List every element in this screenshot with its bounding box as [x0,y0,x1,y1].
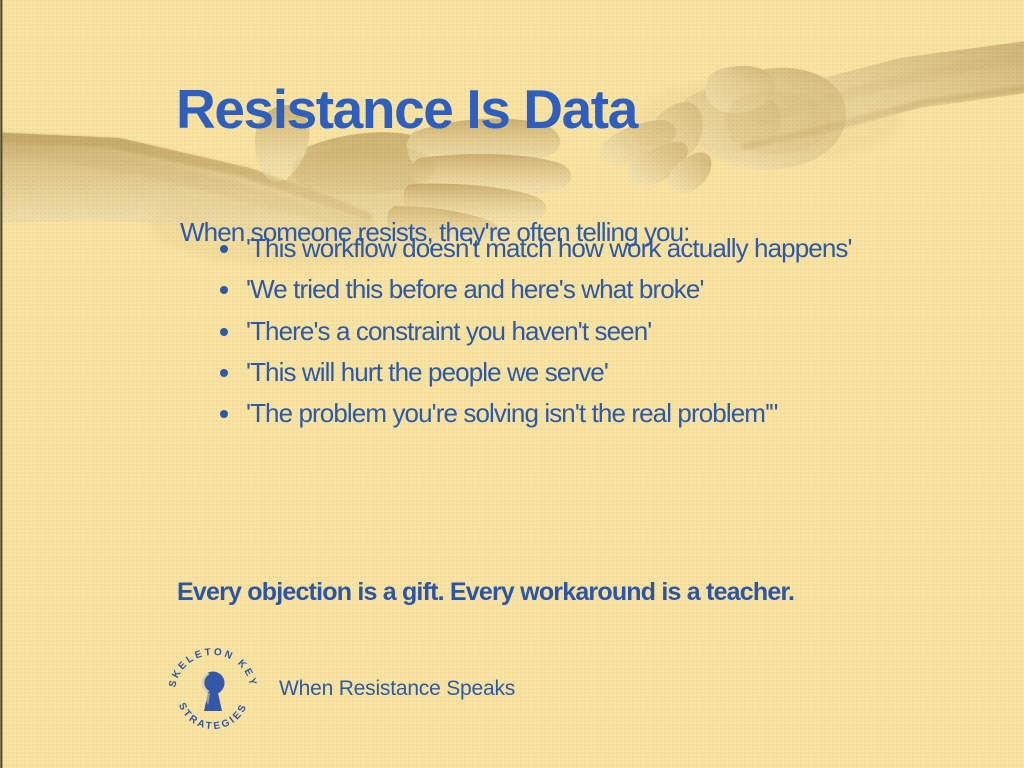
list-item: 'This workflow doesn't match how work ac… [210,228,900,268]
list-item: 'We tried this before and here's what br… [210,269,900,309]
slide-footer: SKELETON KEY STRATEGIES [163,641,515,737]
list-item: 'There's a constraint you haven't seen' [210,311,900,351]
resistance-statements-list: 'This workflow doesn't match how work ac… [210,228,900,434]
slide-canvas: Resistance Is Data When someone resists,… [0,0,1024,768]
skeleton-key-strategies-logo: SKELETON KEY STRATEGIES [163,641,263,737]
list-item: 'The problem you're solving isn't the re… [210,393,900,433]
keyhole-icon [201,672,225,712]
footer-label: When Resistance Speaks [279,677,515,701]
kicker-statement: Every objection is a gift. Every workaro… [177,576,817,609]
left-edge-rule [0,0,3,768]
slide-content: Resistance Is Data When someone resists,… [0,0,1024,768]
list-item: 'This will hurt the people we serve' [210,352,900,392]
slide-title: Resistance Is Data [176,81,637,139]
